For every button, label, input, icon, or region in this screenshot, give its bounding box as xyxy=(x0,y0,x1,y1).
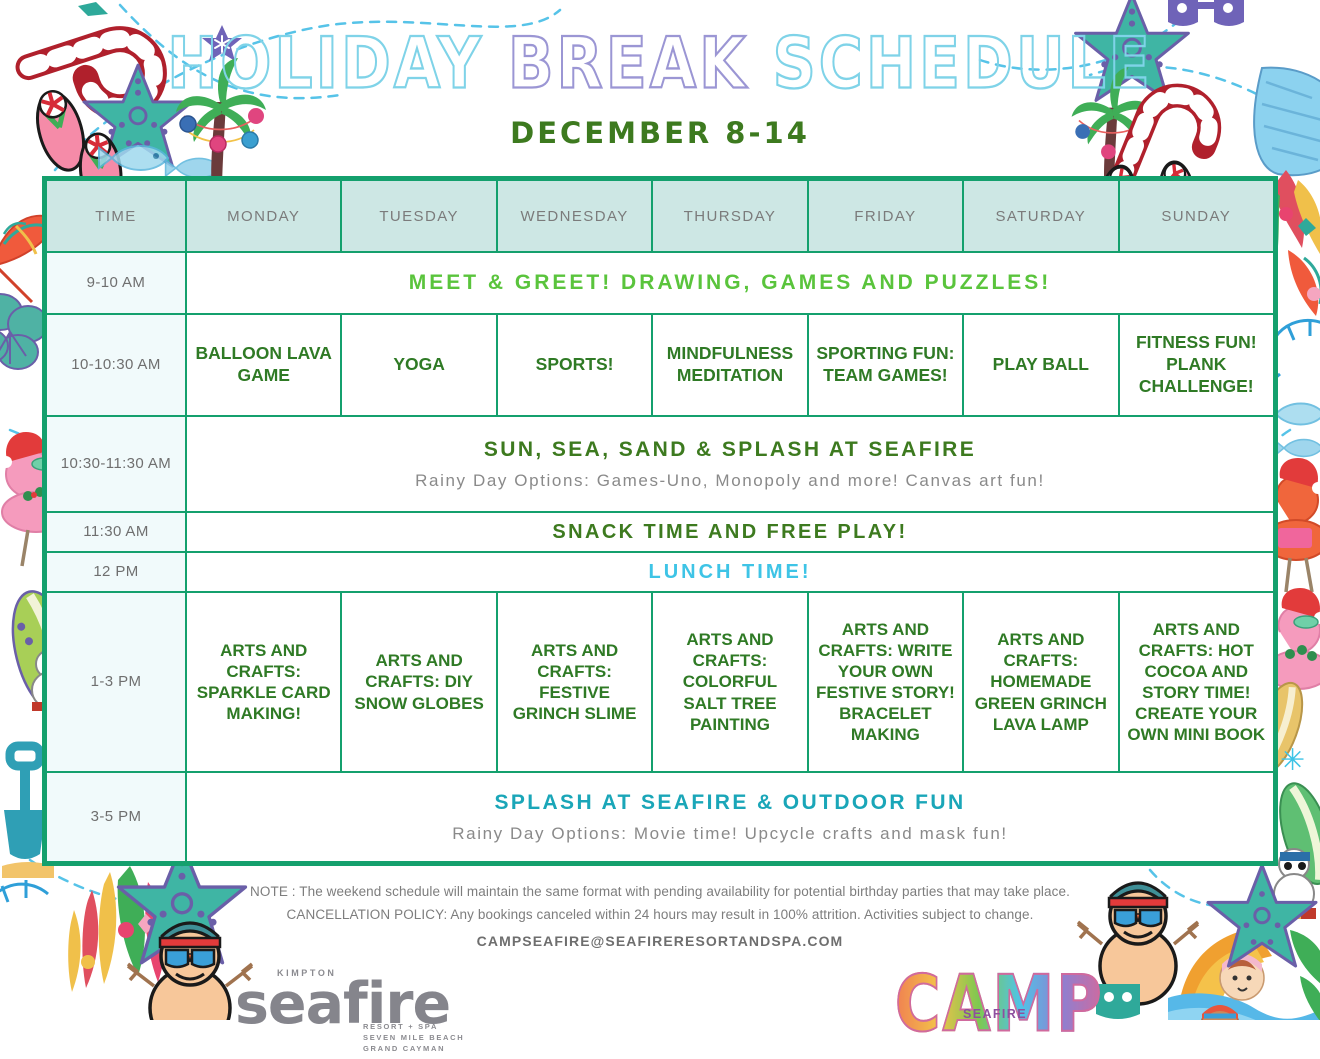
header-tuesday: TUESDAY xyxy=(341,180,496,252)
header-thursday: THURSDAY xyxy=(652,180,807,252)
cancellation-text: CANCELLATION POLICY: Any bookings cancel… xyxy=(0,903,1320,926)
banner-cell: SPLASH AT SEAFIRE & OUTDOOR FUN Rainy Da… xyxy=(186,772,1274,862)
header-time: TIME xyxy=(46,180,186,252)
schedule-page: HOLIDAY BREAK SCHEDULE DECEMBER 8-14 TIM… xyxy=(0,0,1320,1020)
banner-main-text: MEET & GREET! DRAWING, GAMES AND PUZZLES… xyxy=(197,271,1263,295)
activity-cell-friday: ARTS AND CRAFTS: WRITE YOUR OWN FESTIVE … xyxy=(808,592,963,772)
schedule-table: TIME MONDAY TUESDAY WEDNESDAY THURSDAY F… xyxy=(45,179,1275,863)
title-block: HOLIDAY BREAK SCHEDULE DECEMBER 8-14 xyxy=(0,0,1320,150)
activity-cell-wednesday: SPORTS! xyxy=(497,314,652,416)
activity-cell-sunday: FITNESS FUN! PLANK CHALLENGE! xyxy=(1119,314,1274,416)
time-label: 12 PM xyxy=(46,552,186,592)
table-row: 11:30 AM SNACK TIME AND FREE PLAY! xyxy=(46,512,1274,552)
header-saturday: SATURDAY xyxy=(963,180,1118,252)
seafire-tagline-line2: SEVEN MILE BEACH xyxy=(363,1032,465,1043)
banner-cell: SUN, SEA, SAND & SPLASH AT SEAFIRE Rainy… xyxy=(186,416,1274,512)
table-row: 10:30-11:30 AM SUN, SEA, SAND & SPLASH A… xyxy=(46,416,1274,512)
schedule-table-container: TIME MONDAY TUESDAY WEDNESDAY THURSDAY F… xyxy=(42,176,1278,866)
date-range: DECEMBER 8-14 xyxy=(0,116,1320,150)
table-row: 10-10:30 AM BALLOON LAVA GAME YOGA SPORT… xyxy=(46,314,1274,416)
footer: NOTE : The weekend schedule will maintai… xyxy=(0,880,1320,1059)
banner-sub-text: Rainy Day Options: Games-Uno, Monopoly a… xyxy=(197,471,1263,491)
camp-wordmark: CAMP xyxy=(895,958,1104,1049)
table-header-row: TIME MONDAY TUESDAY WEDNESDAY THURSDAY F… xyxy=(46,180,1274,252)
note-text: NOTE : The weekend schedule will maintai… xyxy=(0,880,1320,903)
banner-main-text: SUN, SEA, SAND & SPLASH AT SEAFIRE xyxy=(197,438,1263,462)
activity-cell-thursday: ARTS AND CRAFTS: COLORFUL SALT TREE PAIN… xyxy=(652,592,807,772)
header-sunday: SUNDAY xyxy=(1119,180,1274,252)
logo-row: KIMPTON seafire RESORT + SPA SEVEN MILE … xyxy=(0,963,1320,1059)
table-row: 3-5 PM SPLASH AT SEAFIRE & OUTDOOR FUN R… xyxy=(46,772,1274,862)
title-word-holiday: HOLIDAY xyxy=(167,23,484,106)
seafire-tagline-line3: GRAND CAYMAN xyxy=(363,1043,465,1054)
activity-cell-monday: ARTS AND CRAFTS: SPARKLE CARD MAKING! xyxy=(186,592,341,772)
banner-main-text: LUNCH TIME! xyxy=(197,561,1263,584)
title-word-break: BREAK xyxy=(508,23,749,106)
banner-sub-text: Rainy Day Options: Movie time! Upcycle c… xyxy=(197,824,1263,844)
banner-cell: LUNCH TIME! xyxy=(186,552,1274,592)
activity-cell-thursday: MINDFULNESS MEDITATION xyxy=(652,314,807,416)
activity-cell-saturday: PLAY BALL xyxy=(963,314,1118,416)
time-label: 3-5 PM xyxy=(46,772,186,862)
activity-cell-saturday: ARTS AND CRAFTS: HOMEMADE GREEN GRINCH L… xyxy=(963,592,1118,772)
time-label: 11:30 AM xyxy=(46,512,186,552)
banner-cell: MEET & GREET! DRAWING, GAMES AND PUZZLES… xyxy=(186,252,1274,314)
contact-email[interactable]: CAMPSEAFIRE@SEAFIRERESORTANDSPA.COM xyxy=(0,933,1320,949)
title-word-schedule: SCHEDULE xyxy=(773,23,1153,106)
camp-sub-label: SEAFIRE xyxy=(963,1007,1027,1021)
time-label: 10-10:30 AM xyxy=(46,314,186,416)
page-title: HOLIDAY BREAK SCHEDULE xyxy=(167,29,1153,100)
header-monday: MONDAY xyxy=(186,180,341,252)
time-label: 10:30-11:30 AM xyxy=(46,416,186,512)
activity-cell-sunday: ARTS AND CRAFTS: HOT COCOA AND STORY TIM… xyxy=(1119,592,1274,772)
banner-main-text: SPLASH AT SEAFIRE & OUTDOOR FUN xyxy=(197,791,1263,815)
table-row: 1-3 PM ARTS AND CRAFTS: SPARKLE CARD MAK… xyxy=(46,592,1274,772)
time-label: 1-3 PM xyxy=(46,592,186,772)
header-wednesday: WEDNESDAY xyxy=(497,180,652,252)
activity-cell-wednesday: ARTS AND CRAFTS: FESTIVE GRINCH SLIME xyxy=(497,592,652,772)
table-row: 9-10 AM MEET & GREET! DRAWING, GAMES AND… xyxy=(46,252,1274,314)
time-label: 9-10 AM xyxy=(46,252,186,314)
activity-cell-friday: SPORTING FUN:TEAM GAMES! xyxy=(808,314,963,416)
header-friday: FRIDAY xyxy=(808,180,963,252)
table-row: 12 PM LUNCH TIME! xyxy=(46,552,1274,592)
activity-cell-tuesday: ARTS AND CRAFTS: DIY SNOW GLOBES xyxy=(341,592,496,772)
seafire-logo: KIMPTON seafire RESORT + SPA SEVEN MILE … xyxy=(235,968,465,1054)
banner-cell: SNACK TIME AND FREE PLAY! xyxy=(186,512,1274,552)
activity-cell-monday: BALLOON LAVA GAME xyxy=(186,314,341,416)
banner-main-text: SNACK TIME AND FREE PLAY! xyxy=(197,521,1263,544)
activity-cell-tuesday: YOGA xyxy=(341,314,496,416)
camp-seafire-logo: CAMP SEAFIRE xyxy=(895,965,1085,1057)
